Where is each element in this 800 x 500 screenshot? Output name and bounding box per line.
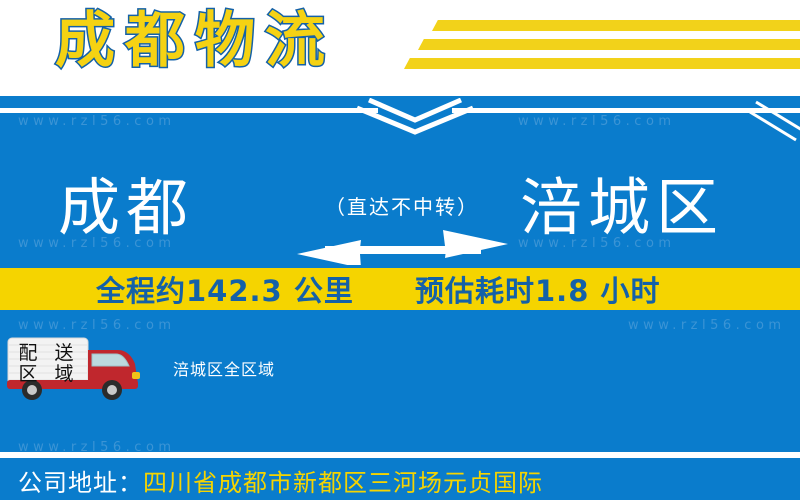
company-address: 公司地址：四川省成都市新都区三河场元贞国际 bbox=[18, 463, 543, 498]
watermark: www.rzl56.com bbox=[18, 318, 176, 333]
coverage-area-label: 涪城区全区域 bbox=[173, 356, 275, 380]
distance-stat: 全程约142.3 公里 bbox=[96, 268, 354, 310]
route-note-top: （直达不中转） bbox=[282, 194, 522, 220]
header-stripe-1 bbox=[432, 20, 800, 31]
footer-band: 公司地址：四川省成都市新都区三河场元贞国际 bbox=[0, 458, 800, 500]
corner-slash-icon bbox=[744, 100, 800, 144]
truck-box-char-1: 配 bbox=[18, 342, 37, 364]
route-row: 成都 涪城区 （直达不中转） 【往返运输】 bbox=[0, 156, 800, 266]
delivery-truck-icon: 配 送 区 域 bbox=[6, 334, 156, 400]
stats-band-bottom-edge bbox=[0, 310, 800, 313]
truck-box-char-2: 送 bbox=[54, 342, 73, 364]
divider-rule-left bbox=[0, 108, 378, 113]
header-stripe-3 bbox=[404, 58, 800, 69]
watermark: www.rzl56.com bbox=[18, 440, 176, 452]
chevron-down-icon bbox=[355, 98, 475, 136]
company-address-label: 公司地址： bbox=[18, 469, 143, 497]
bidirectional-arrow-icon bbox=[295, 228, 510, 270]
delivery-row: 配 送 区 域 涪城区全区域 bbox=[0, 334, 800, 404]
stats-band: 全程约142.3 公里 预估耗时1.8 小时 bbox=[0, 265, 800, 313]
truck-box-char-4: 域 bbox=[54, 363, 73, 385]
watermark: www.rzl56.com bbox=[628, 318, 786, 333]
watermark: www.rzl56.com bbox=[18, 114, 176, 129]
page-title: 成都物流 bbox=[55, 5, 335, 77]
header-stripe-2 bbox=[418, 39, 800, 50]
main-blue-panel: www.rzl56.com www.rzl56.com www.rzl56.co… bbox=[0, 96, 800, 452]
company-address-value: 四川省成都市新都区三河场元贞国际 bbox=[143, 469, 543, 497]
header-band: 成都物流 bbox=[0, 0, 800, 96]
duration-stat: 预估耗时1.8 小时 bbox=[415, 268, 660, 310]
destination-city: 涪城区 bbox=[520, 156, 724, 260]
truck-box-char-3: 区 bbox=[18, 363, 37, 385]
origin-city: 成都 bbox=[58, 156, 194, 260]
poster-canvas: 成都物流 www.rzl56.com www.rzl56.com www.rzl… bbox=[0, 0, 800, 500]
watermark: www.rzl56.com bbox=[518, 114, 676, 129]
